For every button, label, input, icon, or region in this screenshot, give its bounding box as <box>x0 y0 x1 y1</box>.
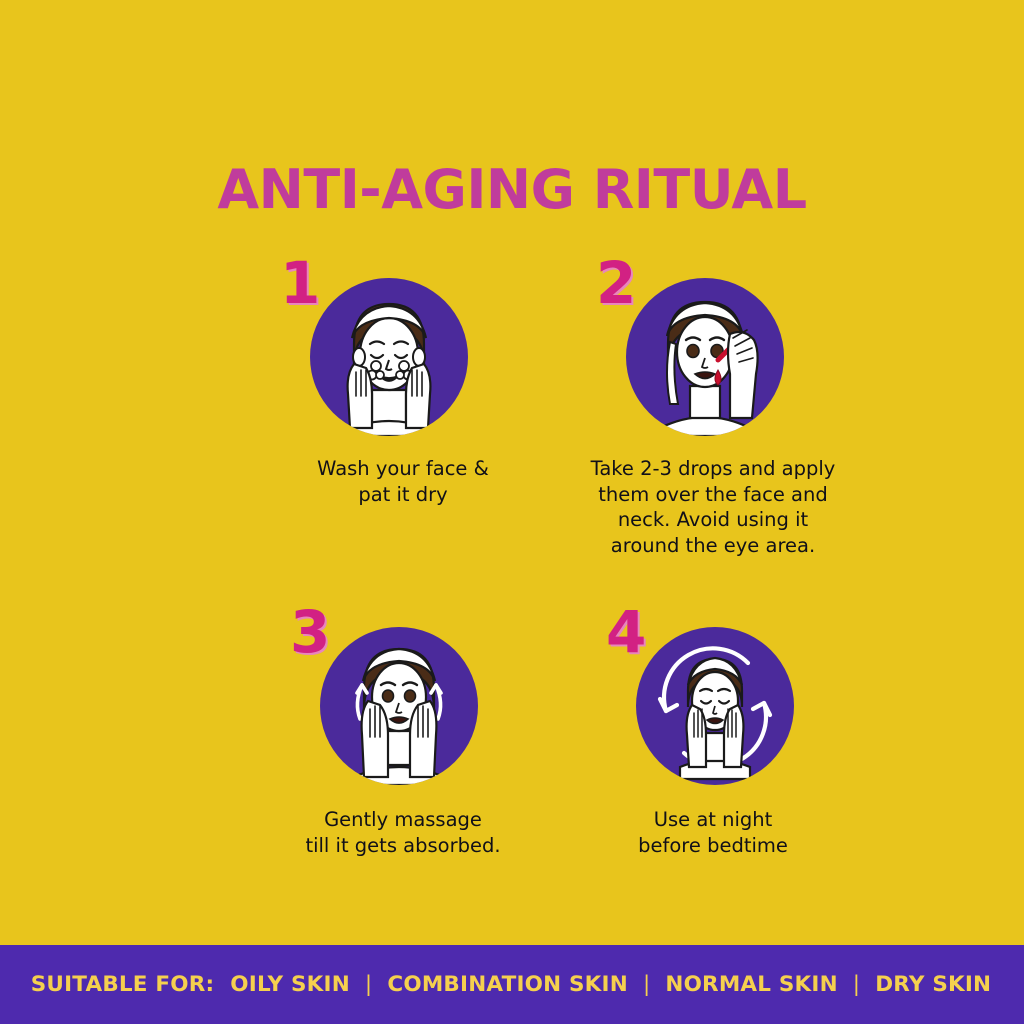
step-1: 1 <box>248 262 558 559</box>
suitable-for-label: SUITABLE FOR: <box>31 972 215 997</box>
banner-separator-2: | <box>630 972 663 997</box>
serum-dropper-icon <box>626 278 784 436</box>
steps-grid: 1 <box>248 262 868 858</box>
page-title: ANTI-AGING RITUAL <box>0 158 1024 221</box>
step-2-caption: Take 2-3 drops and applythem over the fa… <box>558 456 868 559</box>
steps-row-1: 1 <box>248 262 868 559</box>
step-1-number: 1 <box>280 254 320 312</box>
step-3-number: 3 <box>290 603 330 661</box>
step-2-badge: 2 <box>558 262 868 444</box>
step-1-caption: Wash your face &pat it dry <box>248 456 558 507</box>
massage-upward-arrows-icon <box>320 627 478 785</box>
skin-type-normal: NORMAL SKIN <box>663 972 839 997</box>
skin-type-combination: COMBINATION SKIN <box>385 972 630 997</box>
suitable-for-banner: SUITABLE FOR: OILY SKIN | COMBINATION SK… <box>0 945 1024 1024</box>
banner-separator-1: | <box>352 972 385 997</box>
step-3-badge: 3 <box>248 611 558 793</box>
step-4-caption: Use at nightbefore bedtime <box>558 807 868 858</box>
night-circular-arrows-icon <box>636 627 794 785</box>
step-2: 2 <box>558 262 868 559</box>
banner-separator-3: | <box>840 972 873 997</box>
step-4-badge: 4 <box>558 611 868 793</box>
step-4-number: 4 <box>606 603 646 661</box>
wash-face-icon <box>310 278 468 436</box>
skin-type-oily: OILY SKIN <box>228 972 352 997</box>
step-3: 3 <box>248 611 558 858</box>
step-3-caption: Gently massagetill it gets absorbed. <box>248 807 558 858</box>
step-2-number: 2 <box>596 254 636 312</box>
skin-type-dry: DRY SKIN <box>873 972 993 997</box>
suitable-for-banner-content: SUITABLE FOR: OILY SKIN | COMBINATION SK… <box>31 972 994 997</box>
step-4: 4 <box>558 611 868 858</box>
step-1-badge: 1 <box>248 262 558 444</box>
steps-row-2: 3 <box>248 611 868 858</box>
